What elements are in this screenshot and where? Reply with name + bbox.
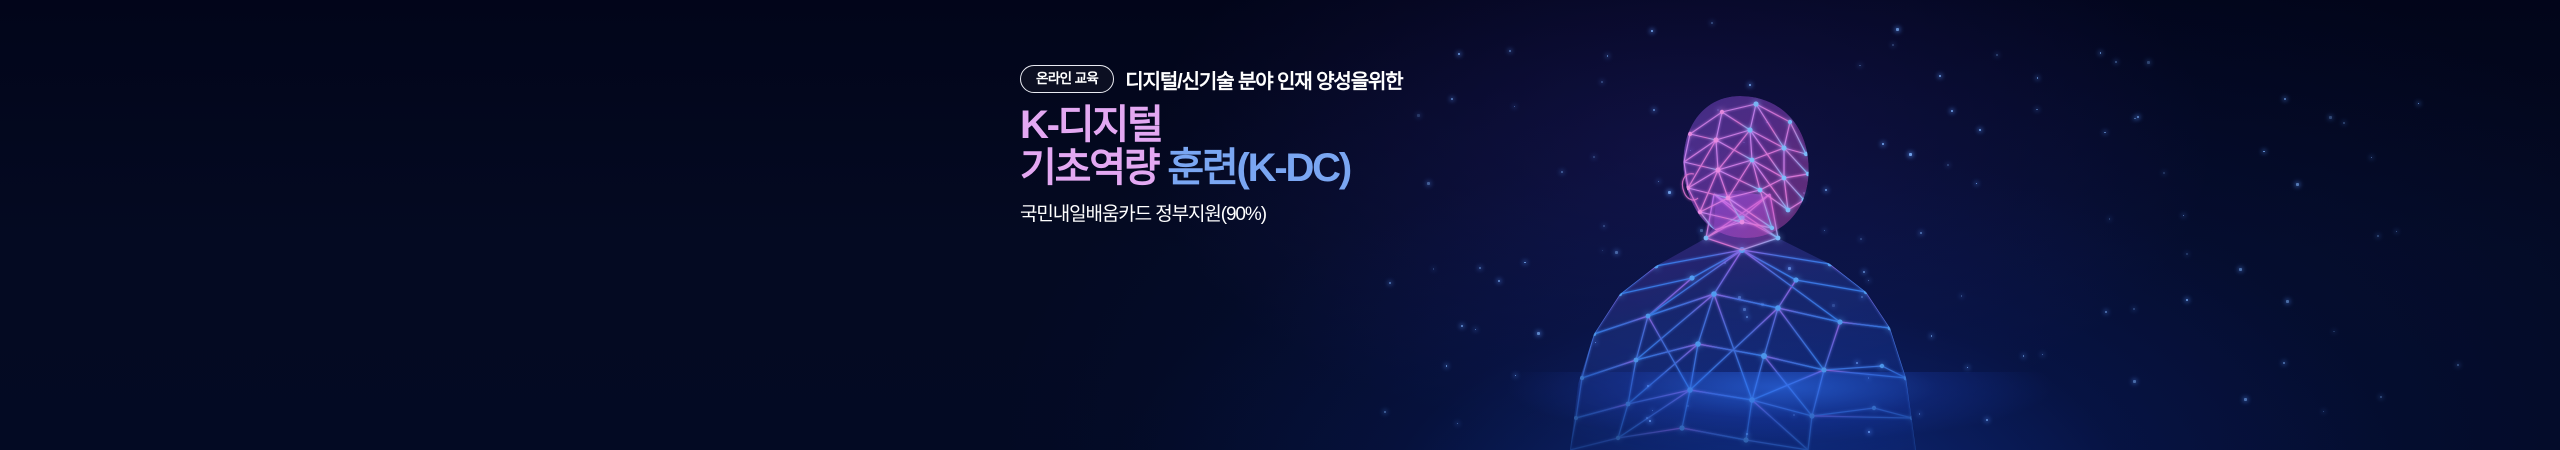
headline-line-2-blue: 훈련(K-DC)	[1167, 146, 1350, 190]
star-particle	[2377, 235, 2379, 237]
star-particle	[2333, 331, 2334, 332]
star-particle	[2042, 354, 2043, 355]
star-particle	[1996, 54, 1998, 56]
star-particle	[1892, 44, 1894, 46]
star-particle	[2147, 61, 2150, 64]
star-particle	[1607, 55, 1608, 56]
star-particle	[2296, 183, 2299, 186]
promo-banner: 온라인 교육 디지털/신기술 분야 인재 양성을위한 K-디지털 기초역량 훈련…	[0, 0, 2560, 450]
headline-line-2: 기초역량 훈련(K-DC)	[1020, 147, 1540, 190]
star-particle	[2115, 61, 2117, 63]
star-particle	[2418, 103, 2419, 104]
star-particle	[2186, 299, 2188, 301]
star-particle	[1384, 411, 1386, 413]
star-particle	[2104, 132, 2105, 133]
star-particle	[2263, 151, 2264, 152]
star-particle	[1651, 30, 1653, 32]
star-particle	[1458, 53, 1460, 55]
online-education-badge: 온라인 교육	[1020, 65, 1114, 93]
star-particle	[1939, 75, 1941, 77]
star-particle	[2163, 172, 2165, 174]
star-particle	[2134, 118, 2135, 119]
star-particle	[2133, 380, 2136, 383]
star-particle	[1859, 65, 1860, 66]
star-particle	[1457, 423, 1458, 424]
star-particle	[1446, 365, 1447, 366]
star-particle	[2244, 398, 2247, 401]
headline-line-1: K-디지털	[1020, 104, 1540, 147]
star-particle	[1461, 325, 1463, 327]
star-particle	[2137, 116, 2139, 118]
star-particle	[2283, 362, 2285, 364]
star-particle	[2323, 411, 2324, 412]
star-particle	[2329, 116, 2332, 119]
star-particle	[2133, 308, 2135, 310]
banner-tagline: 디지털/신기술 분야 인재 양성을위한	[1125, 65, 1402, 94]
banner-text-block: 온라인 교육 디지털/신기술 분야 인재 양성을위한 K-디지털 기초역량 훈련…	[1020, 62, 1540, 226]
star-particle	[2380, 396, 2381, 397]
star-particle	[1896, 28, 1899, 31]
headline-line-2-pink: 기초역량	[1020, 146, 1167, 190]
star-particle	[2183, 215, 2184, 216]
star-particle	[2186, 253, 2188, 255]
star-particle	[1475, 329, 1476, 330]
star-particle	[2343, 122, 2345, 124]
star-particle	[2457, 364, 2459, 366]
star-particle	[2109, 218, 2110, 219]
tagline-row: 온라인 교육 디지털/신기술 분야 인재 양성을위한	[1020, 62, 1540, 96]
star-particle	[1711, 22, 1712, 23]
banner-subline: 국민내일배움카드 정부지원(90%)	[1020, 199, 1540, 226]
star-particle	[1389, 282, 1391, 284]
low-poly-human-figure	[1478, 78, 2038, 450]
star-particle	[2396, 231, 2397, 232]
star-particle	[2286, 300, 2289, 303]
star-particle	[2371, 157, 2372, 158]
star-particle	[1433, 268, 1434, 269]
star-particle	[1509, 50, 1511, 52]
star-particle	[2239, 268, 2242, 271]
star-particle	[2284, 98, 2286, 100]
star-particle	[2100, 52, 2101, 53]
star-particle	[2105, 311, 2107, 313]
